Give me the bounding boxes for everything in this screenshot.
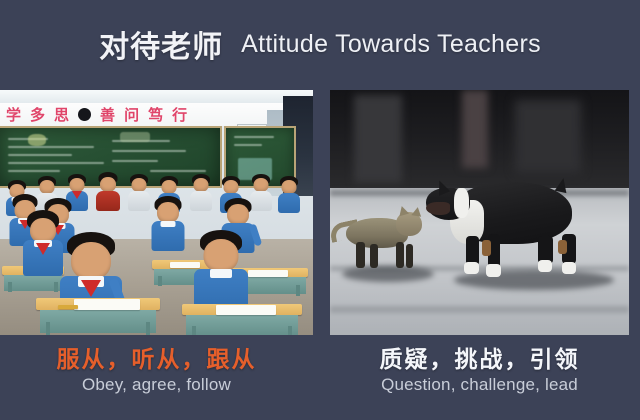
dog-paw-1 (464, 262, 479, 274)
dog-paw-4 (562, 262, 576, 274)
cat-ear-right (411, 206, 422, 217)
student-front-girl (24, 210, 62, 272)
page-title-english: Attitude Towards Teachers (241, 30, 541, 59)
dog-ear-right (555, 177, 570, 193)
dog-tan-marking-1 (482, 240, 491, 256)
page-title-chinese: 对待老师 (99, 22, 223, 66)
classroom-scene: 学 多 思 善 问 笃 行 (0, 90, 313, 335)
banner-char-7: 行 (172, 104, 187, 125)
notebook-foreground (74, 299, 140, 310)
banner-dot-icon (78, 108, 91, 121)
cat-foreleg-2 (406, 244, 413, 268)
banner-text: 学 多 思 善 问 笃 行 (0, 104, 187, 125)
caption-right-chinese: 质疑，挑战，引领 (330, 344, 629, 374)
ground-band-3 (330, 306, 629, 313)
dog-tan-marking-2 (558, 240, 567, 254)
desk-foreground-right (182, 304, 302, 335)
slide-header: 对待老师 Attitude Towards Teachers (0, 0, 640, 88)
student-mid-3 (152, 196, 184, 246)
dog-blaze (454, 188, 469, 218)
banner-char-3: 思 (54, 104, 69, 125)
slide-canvas: 对待老师 Attitude Towards Teachers 学 多 思 善 问… (0, 0, 640, 420)
desk-foreground (36, 298, 160, 335)
banner-char-1: 学 (6, 104, 21, 125)
cat-foreleg-1 (396, 242, 404, 268)
background-shape-3 (515, 100, 581, 174)
cat-hindleg-2 (370, 244, 378, 268)
student-back-5 (128, 174, 150, 208)
background-shape-1 (354, 95, 402, 183)
photo-cat-and-dog (330, 90, 629, 335)
caption-left-english: Obey, agree, follow (0, 374, 313, 396)
dog-muzzle (426, 202, 450, 215)
classroom-ceiling (0, 90, 313, 103)
student-back-4 (96, 172, 120, 208)
black-and-white-dog (426, 178, 606, 288)
banner-char-6: 笃 (148, 104, 163, 125)
pencil-foreground (58, 305, 78, 309)
photo-classroom: 学 多 思 善 问 笃 行 (0, 90, 313, 335)
banner-char-2: 多 (30, 104, 45, 125)
background-shape-2 (462, 90, 489, 168)
dog-paw-2 (486, 264, 501, 277)
student-back-7 (190, 174, 212, 208)
caption-left-chinese: 服从，听从，跟从 (0, 344, 313, 374)
caption-right-english: Question, challenge, lead (330, 374, 629, 396)
cat-hindleg-1 (356, 242, 365, 268)
caption-right: 质疑，挑战，引领 Question, challenge, lead (330, 344, 629, 412)
student-back-10 (278, 176, 300, 210)
street-scene (330, 90, 629, 335)
dog-paw-3 (538, 260, 552, 272)
tabby-cat (346, 206, 436, 282)
banner-char-5: 问 (124, 104, 139, 125)
caption-left: 服从，听从，跟从 Obey, agree, follow (0, 344, 313, 412)
student-front-right (196, 230, 246, 310)
banner-char-4: 善 (100, 104, 115, 125)
